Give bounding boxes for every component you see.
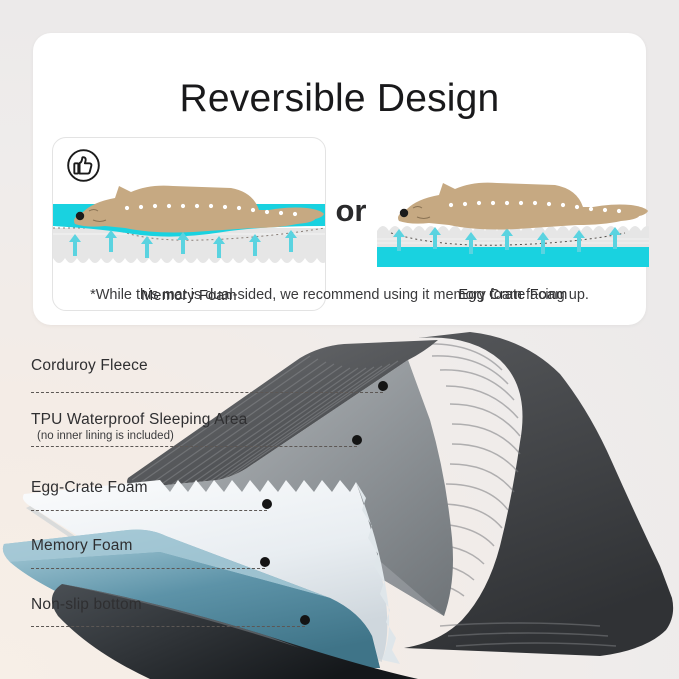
leader-dot-memory-foam (260, 557, 270, 567)
callout-label-non-slip-bottom: Non-slip bottom (31, 596, 142, 614)
leader-line-tpu-waterproof (31, 446, 357, 447)
leader-dot-tpu-waterproof (352, 435, 362, 445)
leader-line-egg-crate-foam (31, 510, 267, 511)
callout-label-tpu-waterproof: TPU Waterproof Sleeping Area (no inner l… (31, 411, 247, 442)
callout-main-text: Egg-Crate Foam (31, 479, 148, 497)
callout-sub-text: (no inner lining is included) (37, 430, 247, 442)
leader-dot-non-slip-bottom (300, 615, 310, 625)
leader-line-memory-foam (31, 568, 265, 569)
infographic-root: Reversible Design (0, 0, 679, 679)
callout-main-text: Non-slip bottom (31, 596, 142, 614)
callout-main-text: TPU Waterproof Sleeping Area (31, 411, 247, 429)
leader-dot-egg-crate-foam (262, 499, 272, 509)
callout-labels: Corduroy Fleece TPU Waterproof Sleeping … (0, 0, 679, 679)
callout-main-text: Memory Foam (31, 537, 133, 555)
callout-label-egg-crate-foam: Egg-Crate Foam (31, 479, 148, 497)
callout-main-text: Corduroy Fleece (31, 357, 148, 375)
callout-label-memory-foam: Memory Foam (31, 537, 133, 555)
leader-dot-corduroy-fleece (378, 381, 388, 391)
callout-label-corduroy-fleece: Corduroy Fleece (31, 357, 148, 375)
leader-line-non-slip-bottom (31, 626, 305, 627)
leader-line-corduroy-fleece (31, 392, 383, 393)
